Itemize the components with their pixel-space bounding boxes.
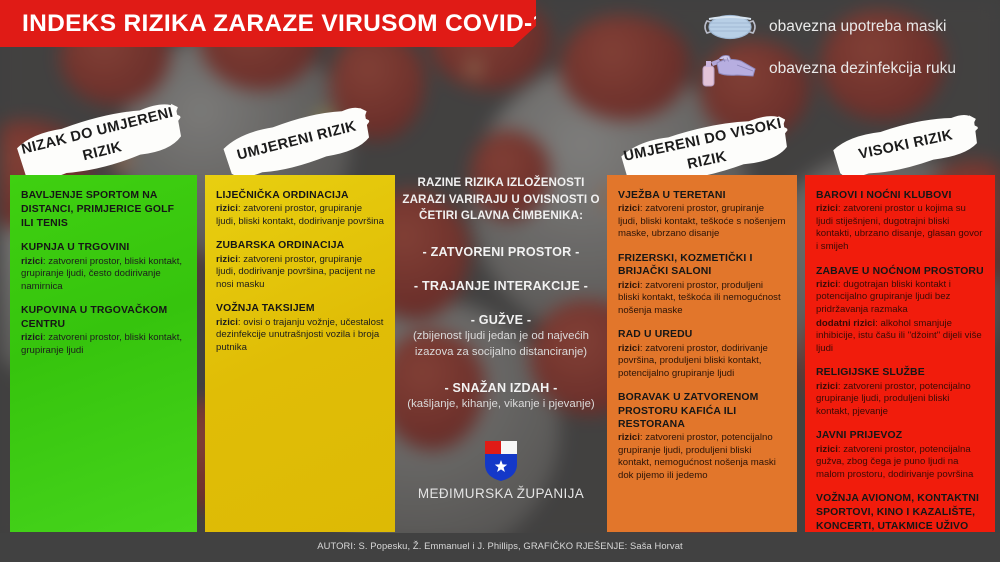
risk-entry-title: FRIZERSKI, KOZMETIČKI I BRIJAČKI SALONI: [618, 252, 786, 279]
factor-name: - GUŽVE -: [398, 313, 604, 327]
risk-entry-title: JAVNI PRIJEVOZ: [816, 429, 984, 442]
risk-entry: VJEŽBA U TERETANI rizici: zatvoreni pros…: [618, 189, 786, 241]
legend-label-sanitizer: obavezna dezinfekcija ruku: [769, 60, 956, 78]
center-heading: RAZINE RIZIKA IZLOŽENOSTI ZARAZI VARIRAJ…: [398, 175, 604, 225]
risk-entry-title: RELIGIJSKE SLUŽBE: [816, 366, 984, 379]
risk-entry-detail: rizici: zatvoreni prostor u kojima su lj…: [816, 203, 984, 253]
risk-entry: RELIGIJSKE SLUŽBE rizici: zatvoreni pros…: [816, 366, 984, 418]
risk-text: : zatvoreni prostor, dodirivanje površin…: [618, 343, 768, 379]
page-title: INDEKS RIZIKA ZARAZE VIRUSOM COVID-19: [0, 10, 560, 38]
risk-entry-detail: rizici: zatvoreni prostor, grupiranje lj…: [618, 203, 786, 241]
risk-entry-title: VJEŽBA U TERETANI: [618, 189, 786, 202]
risk-label: rizici: [816, 203, 838, 214]
risk-column-high: BAROVI I NOĆNI KLUBOVI rizici: zatvoreni…: [805, 175, 995, 532]
risk-text: : zatvoreni prostor, potencijalno grupir…: [816, 381, 971, 417]
risk-entry-title: RAD U UREDU: [618, 328, 786, 341]
risk-entry-detail: rizici: zatvoreni prostor, grupiranje lj…: [216, 254, 384, 292]
risk-text: : zatvoreni prostor, grupiranje ljudi, b…: [216, 203, 384, 227]
medimurje-county-coat-of-arms-icon: [484, 440, 518, 482]
risk-entry-title: KUPNJA U TRGOVINI: [21, 241, 186, 254]
risk-label: rizici: [816, 381, 838, 392]
factor-name: - ZATVORENI PROSTOR -: [398, 245, 604, 259]
risk-entry-detail: rizici: dugotrajan bliski kontakt i pote…: [816, 279, 984, 317]
risk-text: : zatvoreni prostor u kojima su ljudi st…: [816, 203, 982, 252]
factor-note: (kašljanje, kihanje, vikanje i pjevanje): [398, 397, 604, 413]
risk-text: : ovisi o trajanju vožnje, učestalost de…: [216, 317, 383, 353]
risk-entry: BAROVI I NOĆNI KLUBOVI rizici: zatvoreni…: [816, 189, 984, 254]
risk-banner-label-line1: VISOKI RIZIK: [857, 126, 955, 166]
risk-label: rizici: [216, 203, 238, 214]
factor-item: - TRAJANJE INTERAKCIJE -: [398, 279, 604, 293]
legend-label-mask: obavezna upotreba maski: [769, 18, 947, 36]
risk-entry-title: VOŽNJA TAKSIJEM: [216, 302, 384, 315]
risk-entry: LIJEČNIČKA ORDINACIJA rizici: zatvoreni …: [216, 189, 384, 228]
county-branding: MEĐIMURSKA ŽUPANIJA: [398, 440, 604, 501]
risk-label: rizici: [216, 317, 238, 328]
risk-label: rizici: [216, 254, 238, 265]
risk-column-moderate: LIJEČNIČKA ORDINACIJA rizici: zatvoreni …: [205, 175, 395, 532]
face-mask-icon: [697, 7, 763, 47]
risk-entry: VOŽNJA AVIONOM, KONTAKTNI SPORTOVI, KINO…: [816, 492, 984, 532]
risk-entry: KUPNJA U TRGOVINI rizici: zatvoreni pros…: [21, 241, 186, 293]
hand-sanitizer-icon: [697, 49, 763, 89]
risk-banner-label-line1: UMJERENI RIZIK: [235, 117, 359, 167]
risk-entry-title: BAROVI I NOĆNI KLUBOVI: [816, 189, 984, 202]
risk-entry-detail: rizici: zatvoreni prostor, grupiranje lj…: [216, 203, 384, 228]
extra-risk-label: dodatni rizici: [816, 318, 875, 329]
risk-entry: BORAVAK U ZATVORENOM PROSTORU KAFIĆA ILI…: [618, 391, 786, 482]
factor-name: - TRAJANJE INTERAKCIJE -: [398, 279, 604, 293]
risk-entry-detail: rizici: zatvoreni prostor, potencijalno …: [618, 432, 786, 482]
legend-item-mask: obavezna upotreba maski: [697, 6, 997, 48]
risk-column-moderate-to-high: VJEŽBA U TERETANI rizici: zatvoreni pros…: [607, 175, 797, 532]
risk-column-low-to-moderate: BAVLJENJE SPORTOM NA DISTANCI, PRIMJERIC…: [10, 175, 197, 532]
risk-text: : zatvoreni prostor, grupiranje ljudi, b…: [618, 203, 785, 239]
risk-label: rizici: [816, 279, 838, 290]
factor-name: - SNAŽAN IZDAH -: [398, 381, 604, 395]
risk-entry-title: BAVLJENJE SPORTOM NA DISTANCI, PRIMJERIC…: [21, 189, 186, 230]
risk-text: : zatvoreni prostor, bliski kontakt, gru…: [21, 256, 182, 292]
risk-entry: KUPOVINA U TRGOVAČKOM CENTRU rizici: zat…: [21, 304, 186, 357]
risk-entry-title: BORAVAK U ZATVORENOM PROSTORU KAFIĆA ILI…: [618, 391, 786, 431]
risk-label: rizici: [618, 432, 640, 443]
risk-label: rizici: [618, 203, 640, 214]
risk-text: : zatvoreni prostor, grupiranje ljudi, d…: [216, 254, 375, 290]
risk-entry-title: ZABAVE U NOĆNOM PROSTORU: [816, 265, 984, 278]
risk-entry-title: KUPOVINA U TRGOVAČKOM CENTRU: [21, 304, 186, 331]
risk-entry: RAD U UREDU rizici: zatvoreni prostor, d…: [618, 328, 786, 380]
credits-line: AUTORI: S. Popesku, Ž. Emmanuel i J. Phi…: [0, 540, 1000, 551]
legend: obavezna upotreba maski obavezna dezinfe…: [697, 6, 997, 90]
risk-entry-detail: rizici: zatvoreni prostor, potencijalno …: [816, 381, 984, 419]
risk-entry-detail: rizici: zatvoreni prostor, produljeni bl…: [618, 280, 786, 318]
risk-entry-detail: rizici: zatvoreni prostor, bliski kontak…: [21, 332, 186, 357]
risk-entry-detail: rizici: ovisi o trajanju vožnje, učestal…: [216, 317, 384, 355]
risk-entry: FRIZERSKI, KOZMETIČKI I BRIJAČKI SALONI …: [618, 252, 786, 317]
risk-label: rizici: [618, 280, 640, 291]
risk-text: : zatvoreni prostor, potencijalno grupir…: [618, 432, 776, 481]
risk-text: : zatvoreni prostor, produljeni bliski k…: [618, 280, 781, 316]
factor-item: - ZATVORENI PROSTOR -: [398, 245, 604, 259]
risk-entry: VOŽNJA TAKSIJEM rizici: ovisi o trajanju…: [216, 302, 384, 354]
risk-entry: BAVLJENJE SPORTOM NA DISTANCI, PRIMJERIC…: [21, 189, 186, 230]
infographic-canvas: INDEKS RIZIKA ZARAZE VIRUSOM COVID-19 ob…: [0, 0, 1000, 562]
risk-entry-title: VOŽNJA AVIONOM, KONTAKTNI SPORTOVI, KINO…: [816, 492, 984, 532]
risk-text: : zatvoreni prostor, potencijalna gužva,…: [816, 444, 973, 480]
factor-item: - SNAŽAN IZDAH - (kašljanje, kihanje, vi…: [398, 381, 604, 413]
risk-entry-extra: dodatni rizici: alkohol smanjuje inhibic…: [816, 318, 984, 356]
risk-entry-detail: rizici: zatvoreni prostor, dodirivanje p…: [618, 343, 786, 381]
risk-entry: ZUBARSKA ORDINACIJA rizici: zatvoreni pr…: [216, 239, 384, 291]
risk-label: rizici: [21, 256, 43, 267]
risk-entry-title: LIJEČNIČKA ORDINACIJA: [216, 189, 384, 202]
legend-item-sanitizer: obavezna dezinfekcija ruku: [697, 48, 997, 90]
risk-label: rizici: [816, 444, 838, 455]
risk-entry-detail: rizici: zatvoreni prostor, bliski kontak…: [21, 256, 186, 294]
risk-entry-detail: rizici: zatvoreni prostor, potencijalna …: [816, 444, 984, 482]
factor-note: (zbijenost ljudi jedan je od najvećih iz…: [398, 329, 604, 361]
county-name: MEĐIMURSKA ŽUPANIJA: [398, 486, 604, 501]
factor-item: - GUŽVE - (zbijenost ljudi jedan je od n…: [398, 313, 604, 361]
risk-label: rizici: [21, 332, 43, 343]
risk-entry-title: ZUBARSKA ORDINACIJA: [216, 239, 384, 252]
risk-label: rizici: [618, 343, 640, 354]
risk-entry: JAVNI PRIJEVOZ rizici: zatvoreni prostor…: [816, 429, 984, 481]
risk-text: : zatvoreni prostor, bliski kontakt, gru…: [21, 332, 182, 356]
risk-entry: ZABAVE U NOĆNOM PROSTORU rizici: dugotra…: [816, 265, 984, 356]
title-banner: INDEKS RIZIKA ZARAZE VIRUSOM COVID-19: [0, 0, 536, 47]
